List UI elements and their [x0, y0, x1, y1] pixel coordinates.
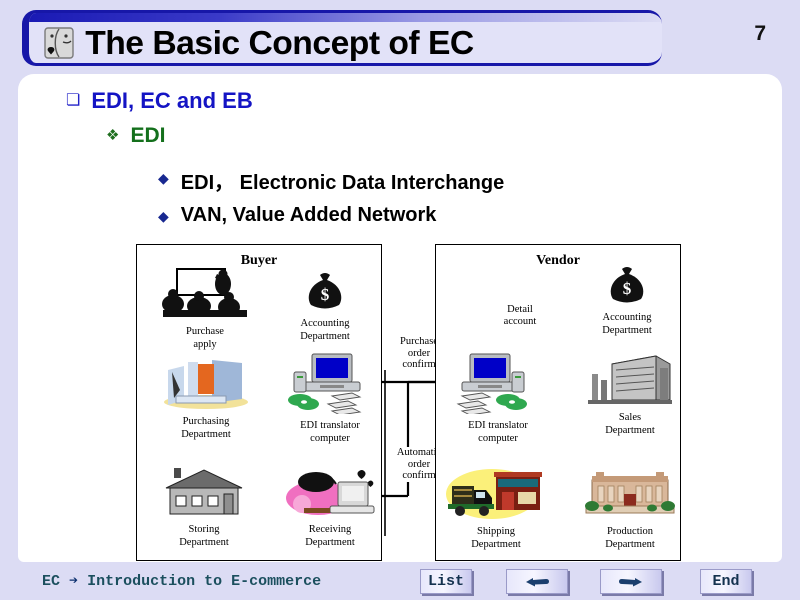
- panel-title-buyer: Buyer: [137, 253, 381, 269]
- footer-breadcrumb: EC ➔ Introduction to E-commerce: [42, 571, 321, 590]
- bullet-level2-edi: ❖ EDI: [106, 124, 165, 148]
- footer-subject: Introduction to E-commerce: [87, 573, 321, 590]
- node-caption: Sales: [582, 412, 678, 424]
- node-caption: Shipping: [442, 526, 550, 538]
- receiving-computer-icon: [280, 466, 380, 518]
- title-inner: The Basic Concept of EC: [29, 22, 662, 63]
- end-button[interactable]: End: [700, 569, 752, 594]
- node-caption: Department: [276, 537, 384, 549]
- money-bag-icon: $: [605, 266, 649, 306]
- node-caption: Purchasing: [154, 416, 258, 428]
- list-button-label: List: [428, 573, 464, 590]
- bullet-level1-edi-ec-eb: ❏ EDI, EC and EB: [66, 88, 253, 114]
- node-shipping-department: Shipping Department: [442, 466, 550, 550]
- label-detail-account: Detail account: [494, 304, 546, 327]
- bullet-level3-van-full: ◆ VAN, Value Added Network: [158, 204, 436, 227]
- node-caption: Department: [154, 537, 254, 549]
- node-caption: Department: [284, 331, 366, 343]
- node-caption: Storing: [154, 524, 254, 536]
- node-caption: EDI translator: [446, 420, 550, 432]
- label-line: Detail: [494, 304, 546, 316]
- node-caption: Department: [578, 539, 682, 551]
- list-button[interactable]: List: [420, 569, 472, 594]
- node-caption: computer: [446, 433, 550, 445]
- next-slide-button[interactable]: [600, 569, 662, 594]
- node-caption: Accounting: [284, 318, 366, 330]
- money-bag-icon: $: [303, 272, 347, 312]
- node-caption: Department: [154, 429, 258, 441]
- diamond-bullet-icon: ◆: [158, 209, 169, 223]
- diamond-bullet-icon: ◆: [158, 171, 169, 185]
- node-accounting-department-vendor: $ Accounting Department: [586, 266, 668, 336]
- node-caption: Department: [442, 539, 550, 551]
- node-caption: Purchase: [152, 326, 258, 338]
- previous-slide-button[interactable]: [506, 569, 568, 594]
- node-caption: Receiving: [276, 524, 384, 536]
- node-purchasing-department: Purchasing Department: [154, 354, 258, 440]
- label-line: account: [494, 316, 546, 328]
- node-caption: apply: [152, 339, 258, 351]
- node-storing-department: Storing Department: [154, 466, 254, 548]
- svg-text:$: $: [321, 285, 330, 304]
- node-purchase-apply: Purchase apply: [152, 268, 258, 350]
- page-title: The Basic Concept of EC: [85, 24, 474, 62]
- page-number: 7: [754, 22, 766, 46]
- edi-flow-diagram: Buyer Purchase apply: [136, 244, 681, 561]
- diamond-outline-bullet-icon: ❖: [106, 128, 119, 143]
- bullet-level3-label-edi: EDI， Electronic Data Interchange: [181, 166, 504, 195]
- slide-title-bar: The Basic Concept of EC: [22, 10, 662, 66]
- bullet-level3-edi-full: ◆ EDI， Electronic Data Interchange: [158, 166, 504, 195]
- desktop-workstation-icon: [160, 354, 252, 410]
- node-edi-translator-computer-vendor: EDI translator computer: [446, 352, 550, 444]
- node-caption: computer: [278, 433, 382, 445]
- hand-pointing-left-icon: [524, 575, 550, 588]
- node-accounting-department-buyer: $ Accounting Department: [284, 272, 366, 342]
- end-button-label: End: [712, 573, 739, 590]
- slide-footer: EC ➔ Introduction to E-commerce List End: [0, 562, 800, 600]
- node-receiving-department: Receiving Department: [276, 466, 384, 548]
- square-bullet-icon: ❏: [66, 93, 80, 109]
- footer-course: EC: [42, 573, 60, 590]
- bullet-level1-label: EDI, EC and EB: [91, 88, 252, 114]
- svg-text:$: $: [623, 279, 632, 298]
- slide-content-panel: ❏ EDI, EC and EB ❖ EDI ◆ EDI， Electronic…: [18, 74, 782, 562]
- computer-disks-icon: [448, 352, 548, 414]
- office-building-icon: [586, 354, 674, 406]
- node-caption: Accounting: [586, 312, 668, 324]
- node-caption: Department: [582, 425, 678, 437]
- warehouse-icon: [160, 466, 248, 518]
- slide-canvas: The Basic Concept of EC 7 ❏ EDI, EC and …: [0, 0, 800, 600]
- hand-pointing-right-icon: [618, 575, 644, 588]
- computer-disks-icon: [280, 352, 380, 414]
- node-caption: Department: [586, 325, 668, 337]
- node-sales-department: Sales Department: [582, 354, 678, 436]
- node-production-department: Production Department: [578, 468, 682, 550]
- node-edi-translator-computer-buyer: EDI translator computer: [278, 352, 382, 444]
- title-gradient-bar: [29, 13, 662, 22]
- bullet-level2-label: EDI: [130, 124, 165, 148]
- truck-store-icon: [444, 466, 548, 520]
- node-caption: EDI translator: [278, 420, 382, 432]
- factory-building-icon: [582, 468, 678, 520]
- meeting-presentation-icon: [159, 268, 251, 320]
- bullet-level3-label-van: VAN, Value Added Network: [181, 204, 437, 227]
- finder-face-icon: [41, 26, 79, 60]
- node-caption: Production: [578, 526, 682, 538]
- right-arrow-icon: ➔: [69, 573, 78, 590]
